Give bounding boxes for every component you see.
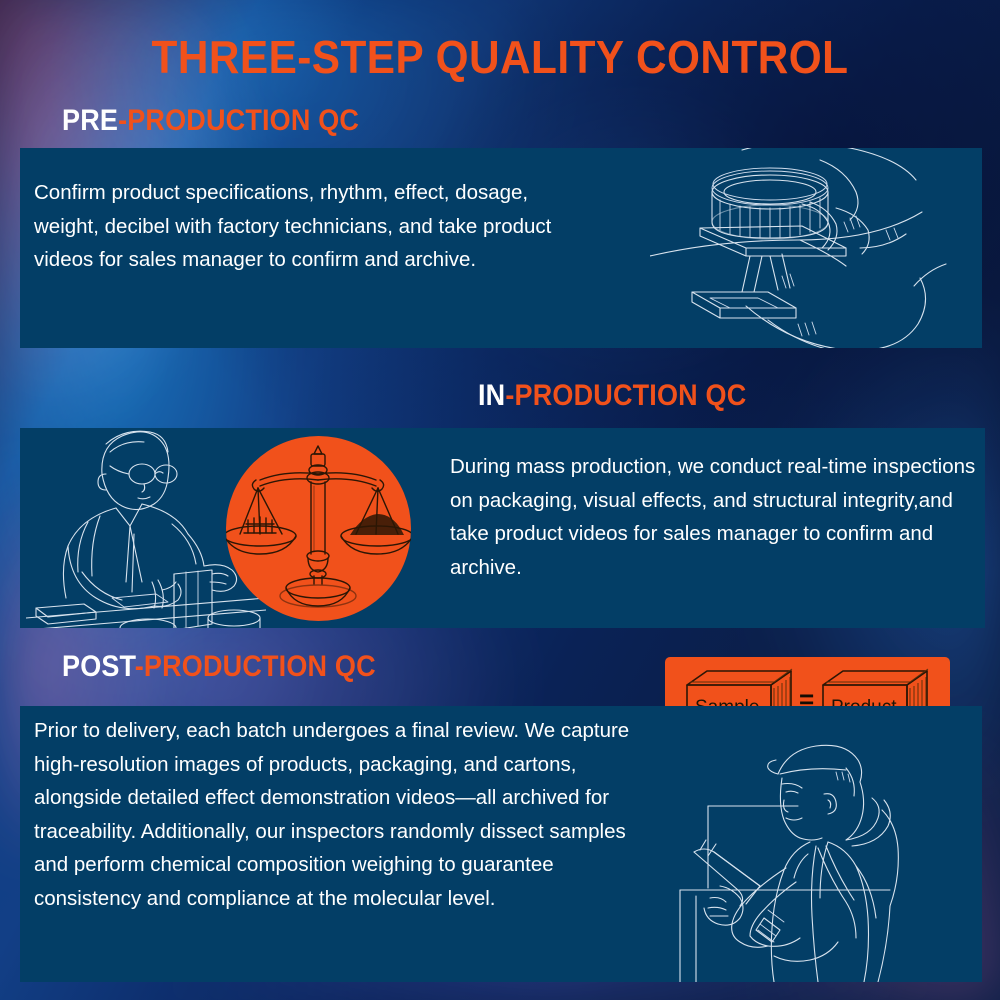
step-heading-suffix: -PRODUCTION QC: [118, 104, 359, 137]
panel-in-production: During mass production, we conduct real-…: [20, 428, 985, 628]
panel-body-post-production: Prior to delivery, each batch undergoes …: [34, 714, 664, 915]
panel-pre-production: Confirm product specifications, rhythm, …: [20, 148, 982, 348]
step-heading-prefix: PRE: [62, 104, 118, 137]
infographic-poster: THREE-STEP QUALITY CONTROL PRE-PRODUCTIO…: [0, 0, 1000, 1000]
step-heading-prefix: IN: [478, 379, 505, 412]
panel-post-production: Prior to delivery, each batch undergoes …: [20, 706, 982, 982]
panel-body-in-production: During mass production, we conduct real-…: [450, 450, 980, 584]
page-title: THREE-STEP QUALITY CONTROL: [40, 30, 960, 84]
step-heading-post-production: POST-PRODUCTION QC: [62, 650, 376, 684]
balance-scale-icon: [226, 436, 411, 621]
step-heading-suffix: -PRODUCTION QC: [505, 379, 746, 412]
step-heading-suffix: -PRODUCTION QC: [135, 650, 376, 683]
step-heading-in-production: IN-PRODUCTION QC: [478, 379, 746, 413]
step-heading-prefix: POST: [62, 650, 135, 683]
step-heading-pre-production: PRE-PRODUCTION QC: [62, 104, 359, 138]
hand-holding-component-icon: [650, 148, 982, 348]
inspector-with-clipboard-icon: [660, 738, 982, 982]
panel-body-pre-production: Confirm product specifications, rhythm, …: [34, 176, 594, 277]
